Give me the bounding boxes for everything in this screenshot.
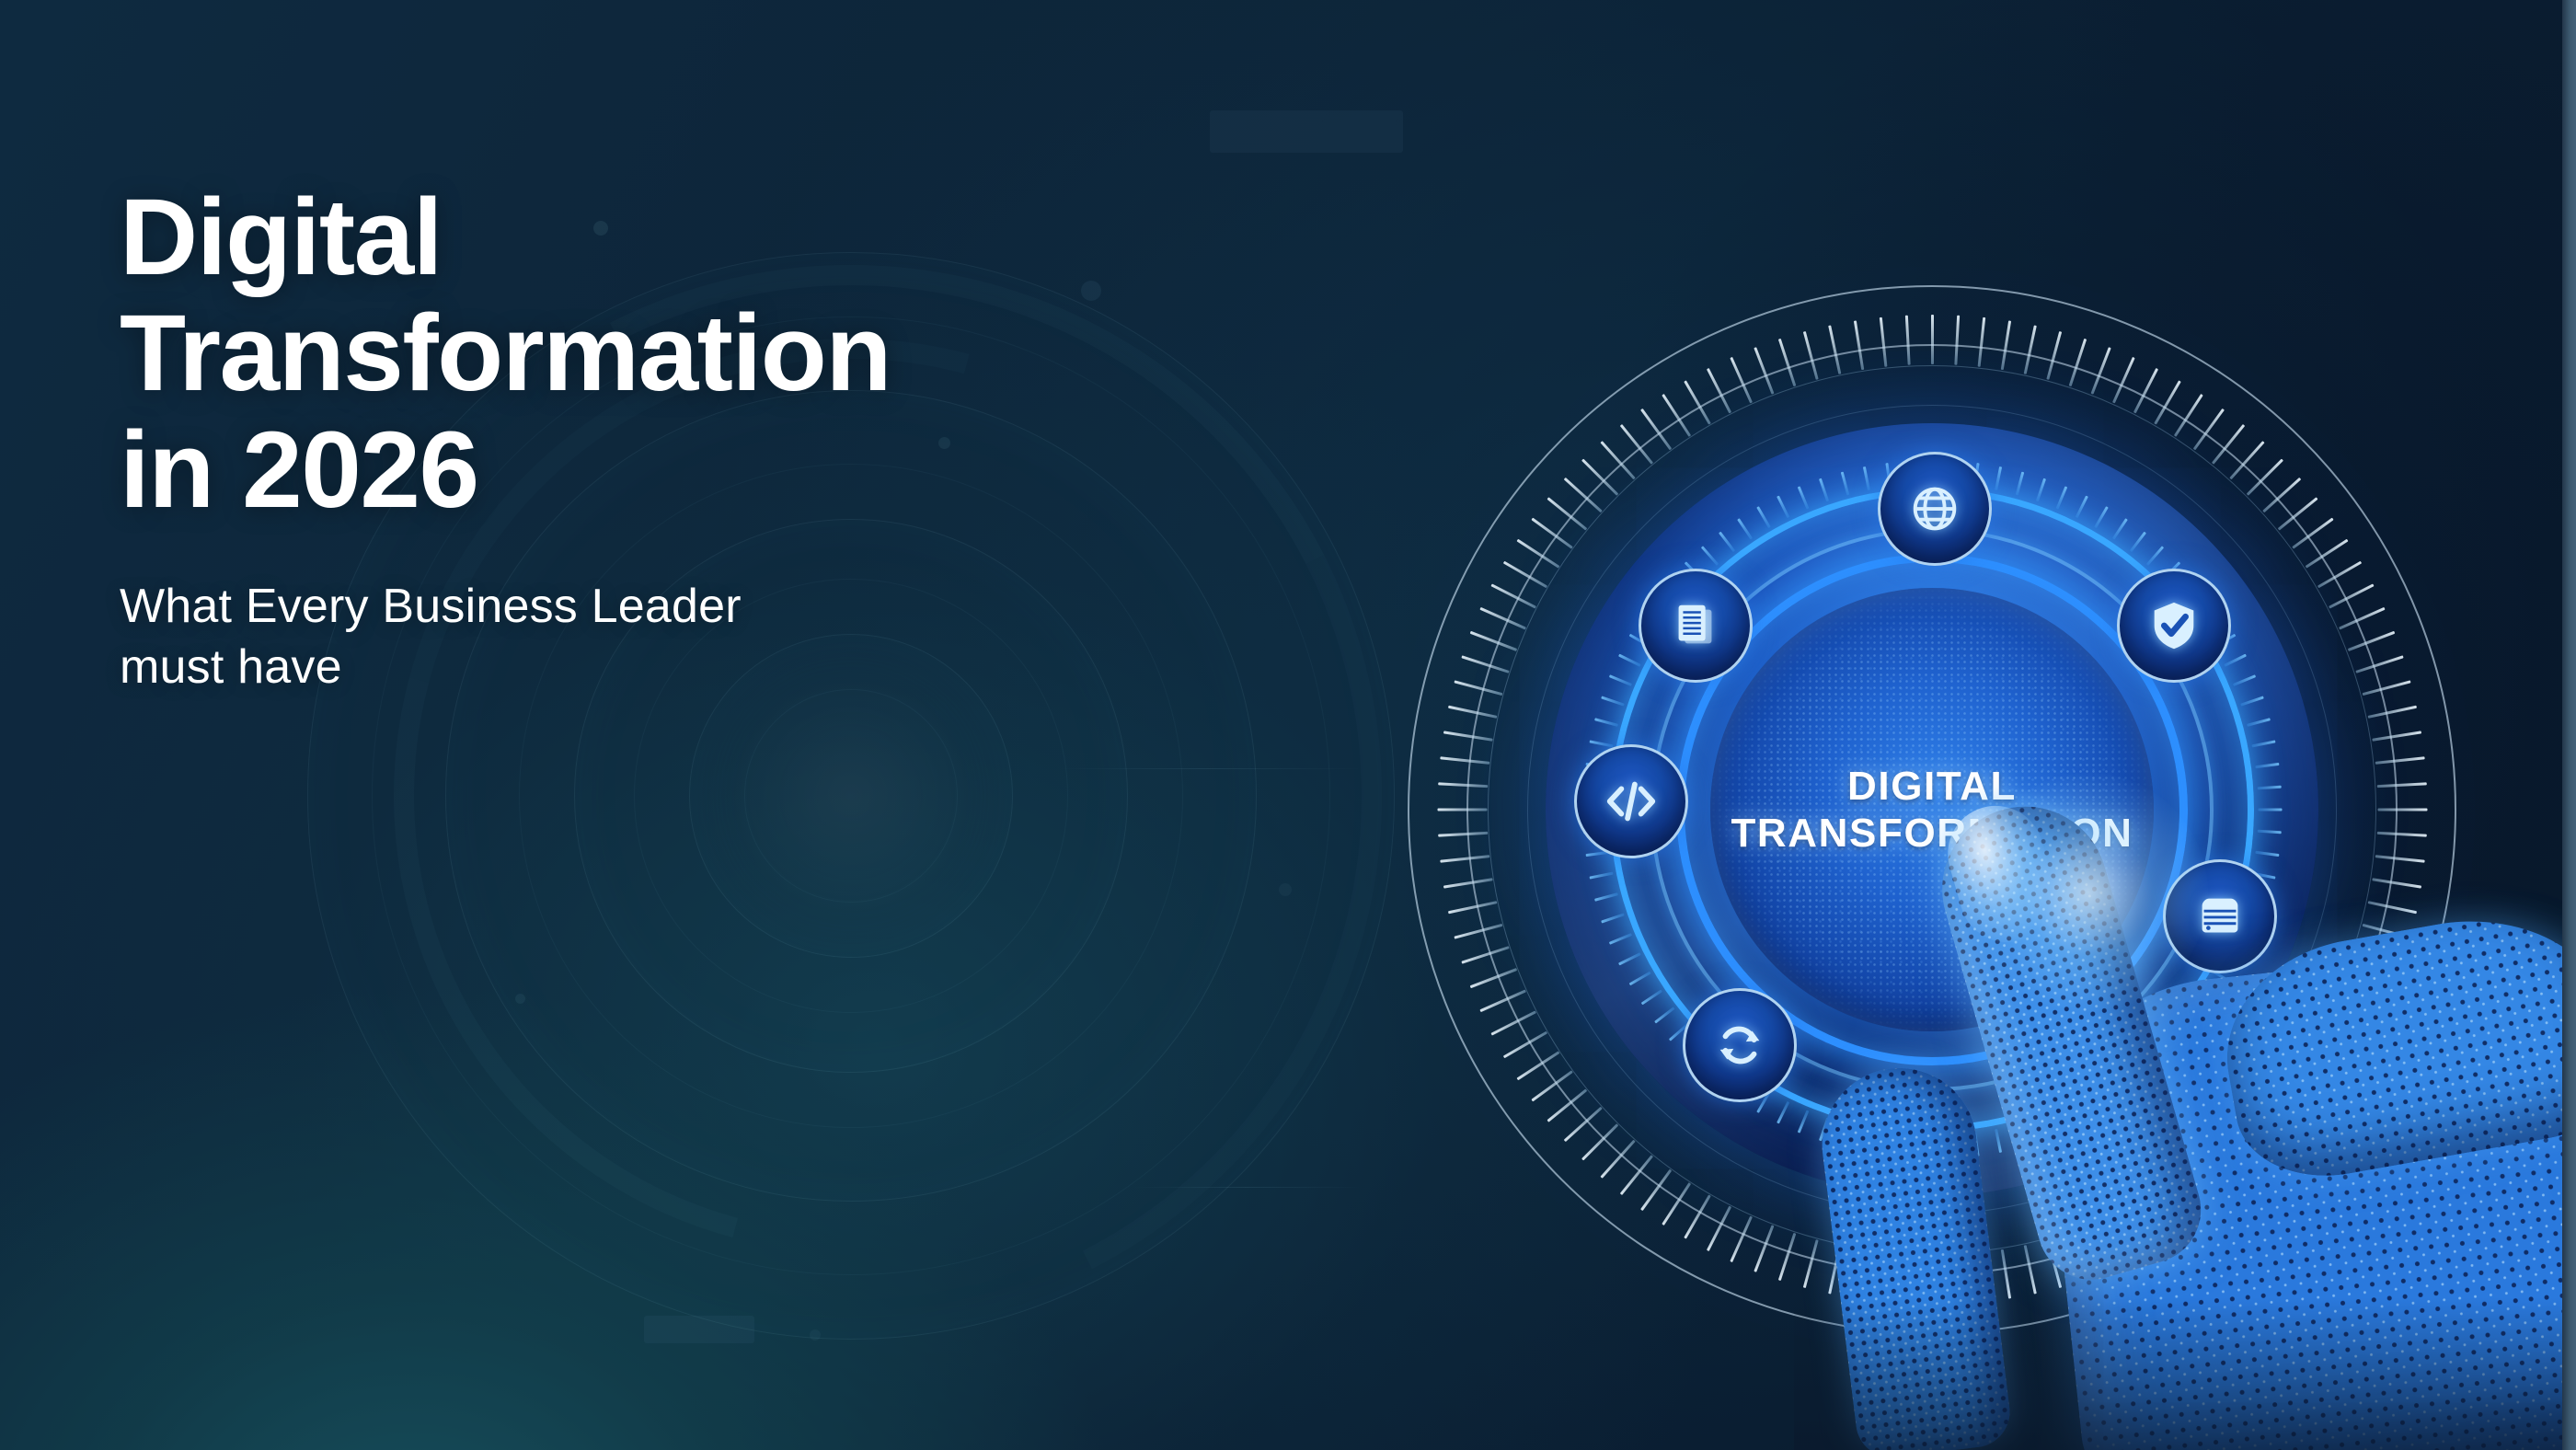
code-brackets-icon <box>1603 773 1660 830</box>
digital-transformation-button[interactable]: DIGITAL TRANSFORMATION <box>1710 588 2154 1031</box>
hero-banner: Digital Transformation in 2026 What Ever… <box>0 0 2576 1450</box>
background-block <box>644 1316 754 1343</box>
node-security[interactable] <box>2117 569 2231 683</box>
hero-copy: Digital Transformation in 2026 What Ever… <box>120 179 1316 698</box>
node-server[interactable] <box>2163 859 2277 973</box>
background-speck <box>810 1329 821 1341</box>
headline-line-3: in 2026 <box>120 412 1316 528</box>
background-speck <box>515 994 525 1004</box>
sync-refresh-icon <box>1711 1017 1768 1074</box>
background-circuit-line <box>1132 1187 1362 1188</box>
node-globe[interactable] <box>1878 452 1992 566</box>
headline-line-1: Digital <box>120 179 1316 295</box>
node-sync[interactable] <box>1683 988 1797 1102</box>
subhead-line-1: What Every Business Leader <box>120 576 1316 638</box>
page-subtitle: What Every Business Leader must have <box>120 576 1316 698</box>
documents-icon <box>1667 597 1724 654</box>
shield-check-icon <box>2145 597 2202 654</box>
background-block <box>1210 110 1403 153</box>
digital-transformation-graphic: DIGITAL TRANSFORMATION <box>1398 276 2466 1343</box>
headline-line-2: Transformation <box>120 295 1316 411</box>
node-code[interactable] <box>1574 744 1688 858</box>
background-speck <box>1279 883 1292 896</box>
server-stack-icon <box>2191 888 2248 945</box>
background-circuit-line <box>1058 768 1362 769</box>
right-edge-strip <box>2562 0 2576 1450</box>
button-press-glow <box>1929 787 2086 943</box>
page-title: Digital Transformation in 2026 <box>120 179 1316 528</box>
node-documents[interactable] <box>1639 569 1753 683</box>
globe-icon <box>1906 480 1963 537</box>
subhead-line-2: must have <box>120 637 1316 698</box>
